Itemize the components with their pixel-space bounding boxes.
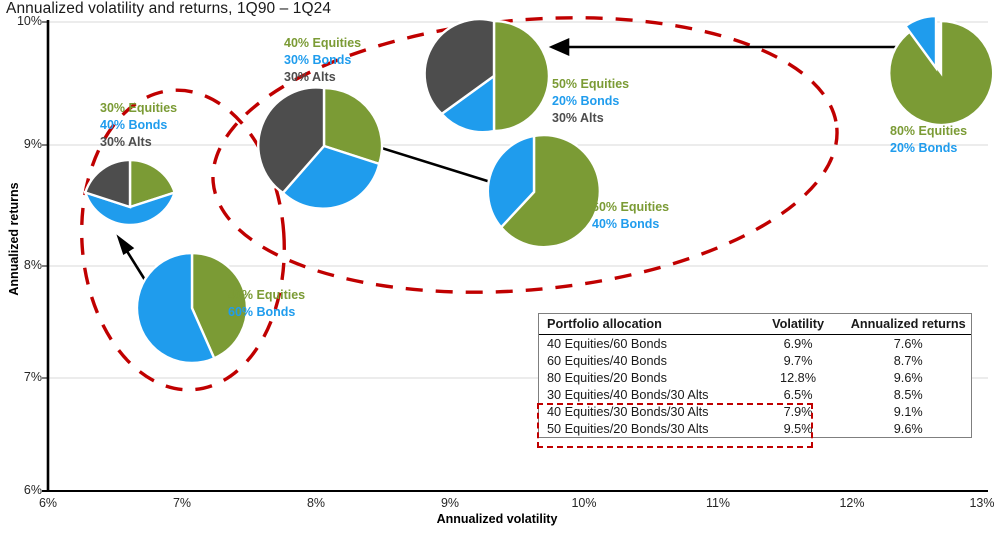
label-bonds: 60% Bonds (228, 304, 305, 321)
x-tick-6: 6% (26, 496, 70, 510)
pie-label-50eq-20bd-30alts: 50% Equities 20% Bonds 30% Alts (552, 76, 629, 127)
table-row: 40 Equities/60 Bonds 6.9% 7.6% (539, 335, 971, 353)
pie-50eq-20bd-30alts (425, 19, 549, 132)
label-bonds: 20% Bonds (552, 93, 629, 110)
y-tick-7: 7% (2, 370, 42, 384)
label-alts: 30% Alts (284, 69, 361, 86)
pie-label-60eq-40bd: 60% Equities 40% Bonds (592, 199, 669, 233)
cell-allocation: 60 Equities/40 Bonds (539, 352, 751, 369)
table-row: 40 Equities/30 Bonds/30 Alts 7.9% 9.1% (539, 403, 971, 420)
table-row: 80 Equities/20 Bonds 12.8% 9.6% (539, 369, 971, 386)
x-tick-10: 10% (562, 496, 606, 510)
table-header-volatility: Volatility (751, 314, 842, 335)
cell-volatility: 9.5% (751, 420, 842, 437)
cell-volatility: 6.9% (751, 335, 842, 353)
label-equities: 60% Equities (592, 199, 669, 216)
label-equities: 40% Equities (284, 35, 361, 52)
table-row: 60 Equities/40 Bonds 9.7% 8.7% (539, 352, 971, 369)
label-bonds: 20% Bonds (890, 140, 967, 157)
cell-returns: 8.7% (841, 352, 971, 369)
label-equities: 40% Equities (228, 287, 305, 304)
arrow-80-20-to-50-20-30 (552, 40, 898, 54)
label-equities: 80% Equities (890, 123, 967, 140)
label-bonds: 40% Bonds (592, 216, 669, 233)
cell-volatility: 7.9% (751, 403, 842, 420)
table-header-returns: Annualized returns (841, 314, 971, 335)
x-tick-13: 13% (960, 496, 994, 510)
pie-80eq-20bd (889, 16, 993, 125)
label-alts: 30% Alts (552, 110, 629, 127)
cell-allocation: 50 Equities/20 Bonds/30 Alts (539, 420, 751, 437)
label-bonds: 40% Bonds (100, 117, 177, 134)
x-tick-11: 11% (696, 496, 740, 510)
y-axis-title: Annualized returns (7, 159, 21, 319)
cell-volatility: 9.7% (751, 352, 842, 369)
label-equities: 30% Equities (100, 100, 177, 117)
cell-volatility: 12.8% (751, 369, 842, 386)
cell-returns: 7.6% (841, 335, 971, 353)
pie-60eq-40bd (488, 135, 600, 247)
x-tick-7: 7% (160, 496, 204, 510)
cell-allocation: 80 Equities/20 Bonds (539, 369, 751, 386)
x-tick-12: 12% (830, 496, 874, 510)
chart-container: Annualized volatility and returns, 1Q90 … (0, 0, 994, 537)
label-equities: 50% Equities (552, 76, 629, 93)
y-tick-9: 9% (2, 137, 42, 151)
x-tick-8: 8% (294, 496, 338, 510)
x-axis-title: Annualized volatility (0, 512, 994, 526)
pie-label-40eq-60bd: 40% Equities 60% Bonds (228, 287, 305, 321)
table-row: 50 Equities/20 Bonds/30 Alts 9.5% 9.6% (539, 420, 971, 437)
label-bonds: 30% Bonds (284, 52, 361, 69)
portfolio-allocation-table: Portfolio allocation Volatility Annualiz… (538, 313, 972, 438)
cell-returns: 9.1% (841, 403, 971, 420)
table-header-allocation: Portfolio allocation (539, 314, 751, 335)
label-alts: 30% Alts (100, 134, 177, 151)
pie-label-30eq-40bd-30alts: 30% Equities 40% Bonds 30% Alts (100, 100, 177, 151)
table-header-row: Portfolio allocation Volatility Annualiz… (539, 314, 971, 335)
y-tick-6: 6% (2, 483, 42, 497)
cell-returns: 9.6% (841, 369, 971, 386)
cell-volatility: 6.5% (751, 386, 842, 403)
pie-label-40eq-30bd-30alts: 40% Equities 30% Bonds 30% Alts (284, 35, 361, 86)
cell-allocation: 40 Equities/30 Bonds/30 Alts (539, 403, 751, 420)
x-tick-9: 9% (428, 496, 472, 510)
y-tick-10: 10% (2, 14, 42, 28)
chart-plot-svg (0, 0, 994, 537)
cell-allocation: 30 Equities/40 Bonds/30 Alts (539, 386, 751, 403)
cell-returns: 9.6% (841, 420, 971, 437)
table-row: 30 Equities/40 Bonds/30 Alts 6.5% 8.5% (539, 386, 971, 403)
cell-allocation: 40 Equities/60 Bonds (539, 335, 751, 353)
pie-label-80eq-20bd: 80% Equities 20% Bonds (890, 123, 967, 157)
pie-30eq-40bd-30alts (85, 160, 174, 225)
cell-returns: 8.5% (841, 386, 971, 403)
